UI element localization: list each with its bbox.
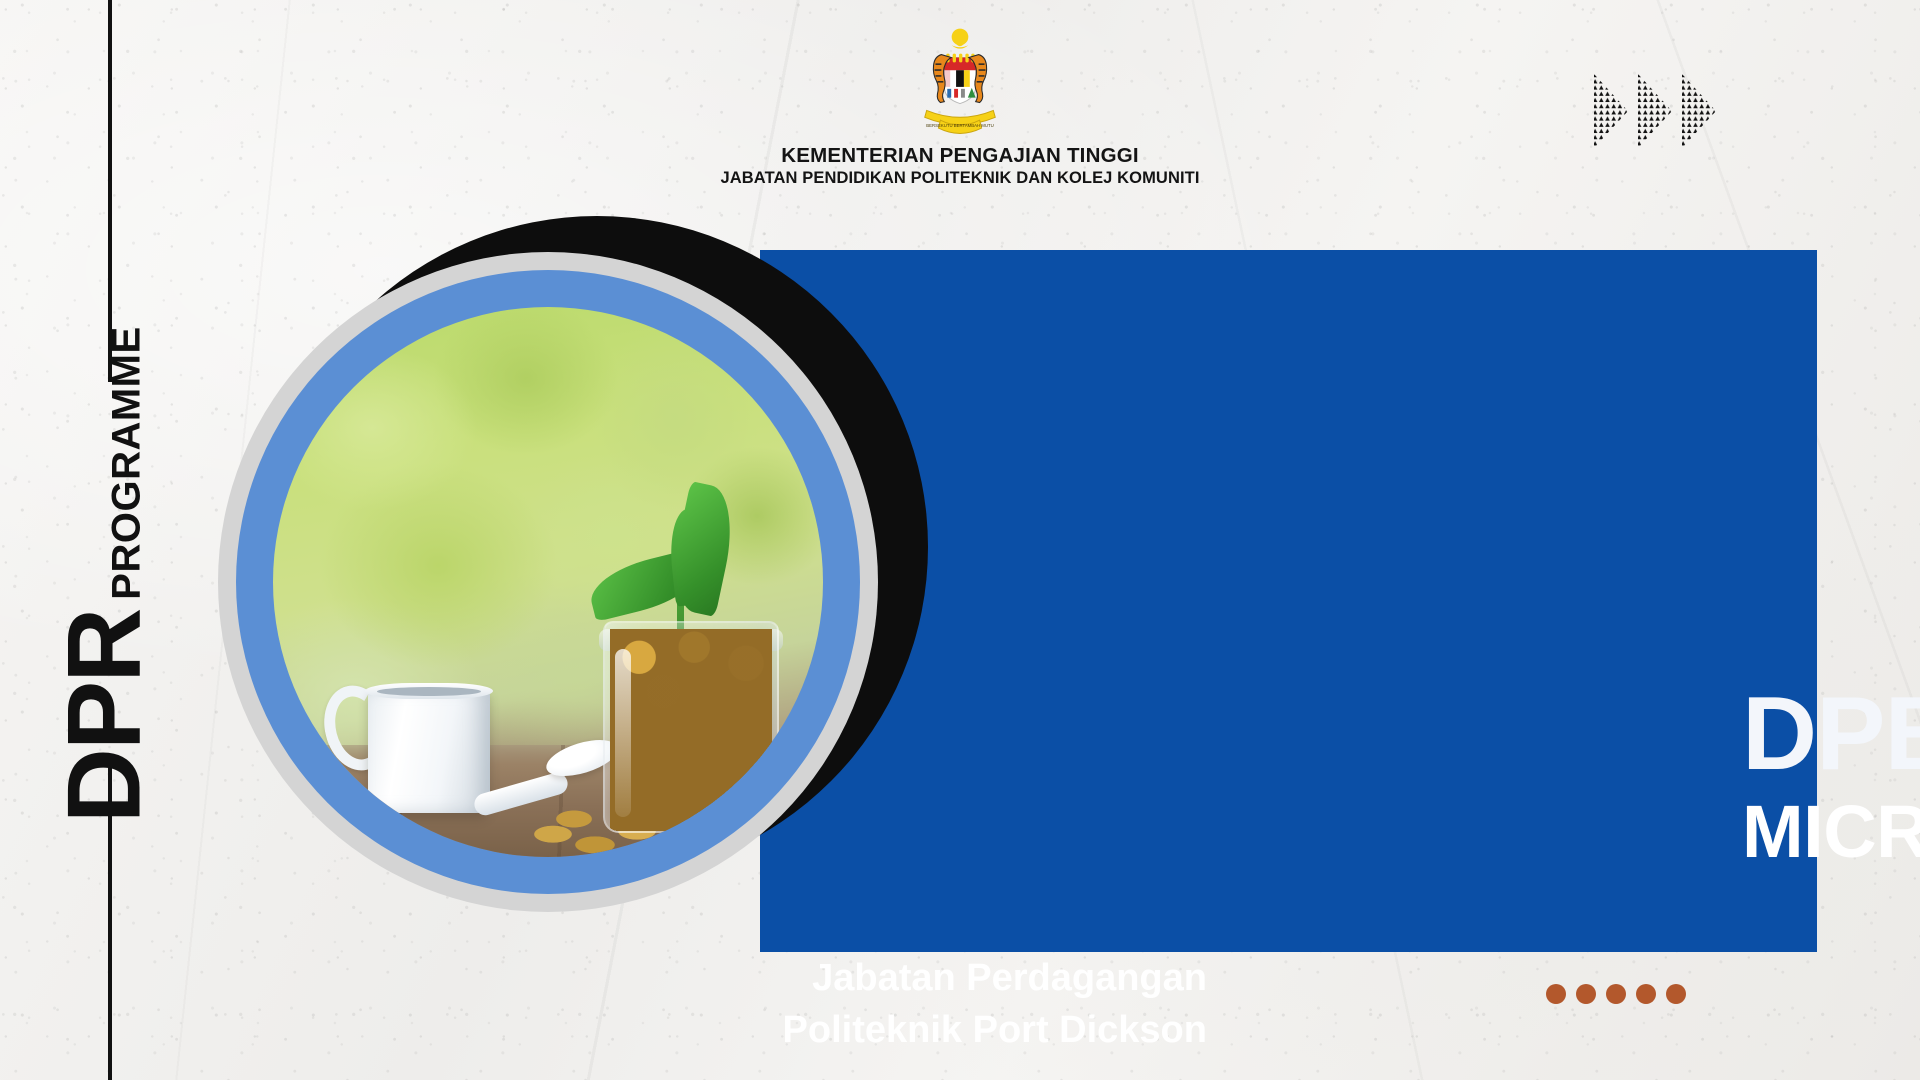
play-arrow-halftone-icon-2 <box>1636 72 1674 150</box>
dot-1 <box>1546 984 1566 1004</box>
course-code-title: DPB10053 <box>1742 682 1920 786</box>
triple-play-arrow-halftone-icon <box>1592 70 1722 152</box>
dot-3 <box>1606 984 1626 1004</box>
dot-4 <box>1636 984 1656 1004</box>
five-dots-icon <box>1546 984 1686 1004</box>
course-name-title: MICROECONOMICS <box>1742 795 1920 869</box>
slide-canvas: DPR PROGRAMME <box>0 0 1920 1080</box>
photo-watering-can-opening <box>377 687 481 696</box>
play-arrow-halftone-icon-3 <box>1680 72 1718 150</box>
play-arrow-halftone-icon-1 <box>1592 72 1630 150</box>
dot-2 <box>1576 984 1596 1004</box>
programme-label: DPR PROGRAMME <box>0 380 210 770</box>
programme-code-text: DPR <box>58 610 152 824</box>
institution-text: Politeknik Port Dickson <box>783 1010 1207 1052</box>
course-image-medallion <box>196 196 936 936</box>
photo-jar-highlight <box>615 649 631 817</box>
photo-jar-coins <box>610 629 772 831</box>
dot-5 <box>1666 984 1686 1004</box>
department-text: Jabatan Perdagangan <box>812 958 1207 1000</box>
programme-word-text: PROGRAMME <box>108 327 144 600</box>
coin-jar-sprout-watering-can-photo <box>273 307 823 857</box>
vertical-rule-icon-top <box>108 0 112 382</box>
photo-watering-can-body <box>368 688 490 813</box>
